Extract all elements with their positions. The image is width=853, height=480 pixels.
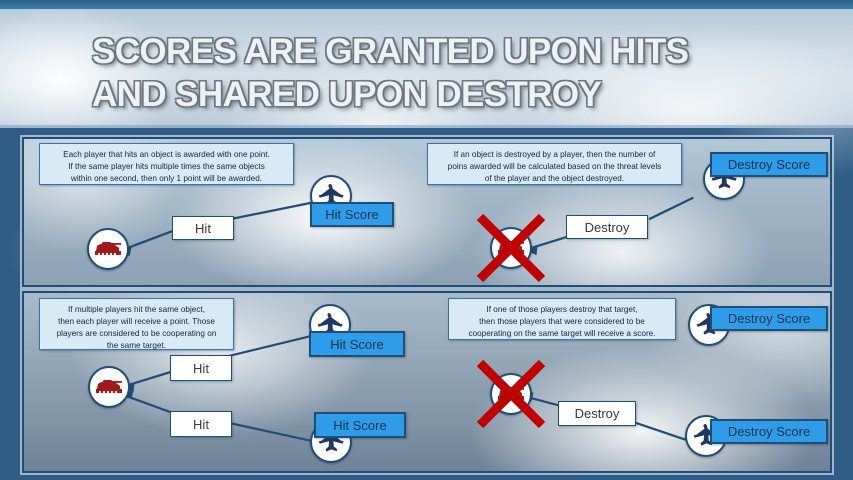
destroy-label[interactable]: Destroy [566, 215, 648, 239]
hit-score-badge-lower[interactable]: Hit Score [314, 412, 406, 438]
page-title: SCORES ARE GRANTED UPON HITS AND SHARED … [92, 31, 832, 116]
tank-icon [93, 240, 123, 258]
hit-label[interactable]: Hit [172, 216, 234, 240]
top-sky-strip [0, 0, 853, 9]
panel-single-player: Each player that hits an object is award… [22, 137, 832, 287]
tank-node-destroyed[interactable] [490, 373, 532, 415]
hit-label-lower[interactable]: Hit [170, 411, 232, 437]
destroy-score-badge[interactable]: Destroy Score [710, 152, 828, 177]
destroy-label[interactable]: Destroy [558, 401, 636, 426]
tank-icon [496, 239, 526, 257]
tank-icon [94, 378, 124, 396]
destroy-score-badge-upper[interactable]: Destroy Score [710, 306, 828, 331]
destroy-rule-callout: If an object is destroyed by a player, t… [427, 143, 682, 185]
hit-rule-callout: Each player that hits an object is award… [39, 143, 294, 185]
slide: SCORES ARE GRANTED UPON HITS AND SHARED … [0, 0, 853, 480]
tank-node[interactable] [88, 366, 130, 408]
shared-destroy-rule-callout: If one of those players destroy that tar… [448, 298, 676, 340]
hit-score-badge-upper[interactable]: Hit Score [309, 331, 405, 357]
multi-hit-rule-callout: If multiple players hit the same object,… [39, 298, 234, 350]
title-banner: SCORES ARE GRANTED UPON HITS AND SHARED … [0, 9, 853, 128]
tank-node-destroyed[interactable] [490, 227, 532, 269]
tank-node[interactable] [87, 228, 129, 270]
destroy-score-badge-lower[interactable]: Destroy Score [710, 419, 828, 444]
banner-divider [0, 125, 853, 128]
panel-cooperative: If multiple players hit the same object,… [22, 291, 832, 473]
hit-label-upper[interactable]: Hit [170, 355, 232, 381]
hit-score-badge[interactable]: Hit Score [310, 202, 394, 227]
tank-icon [496, 385, 526, 403]
